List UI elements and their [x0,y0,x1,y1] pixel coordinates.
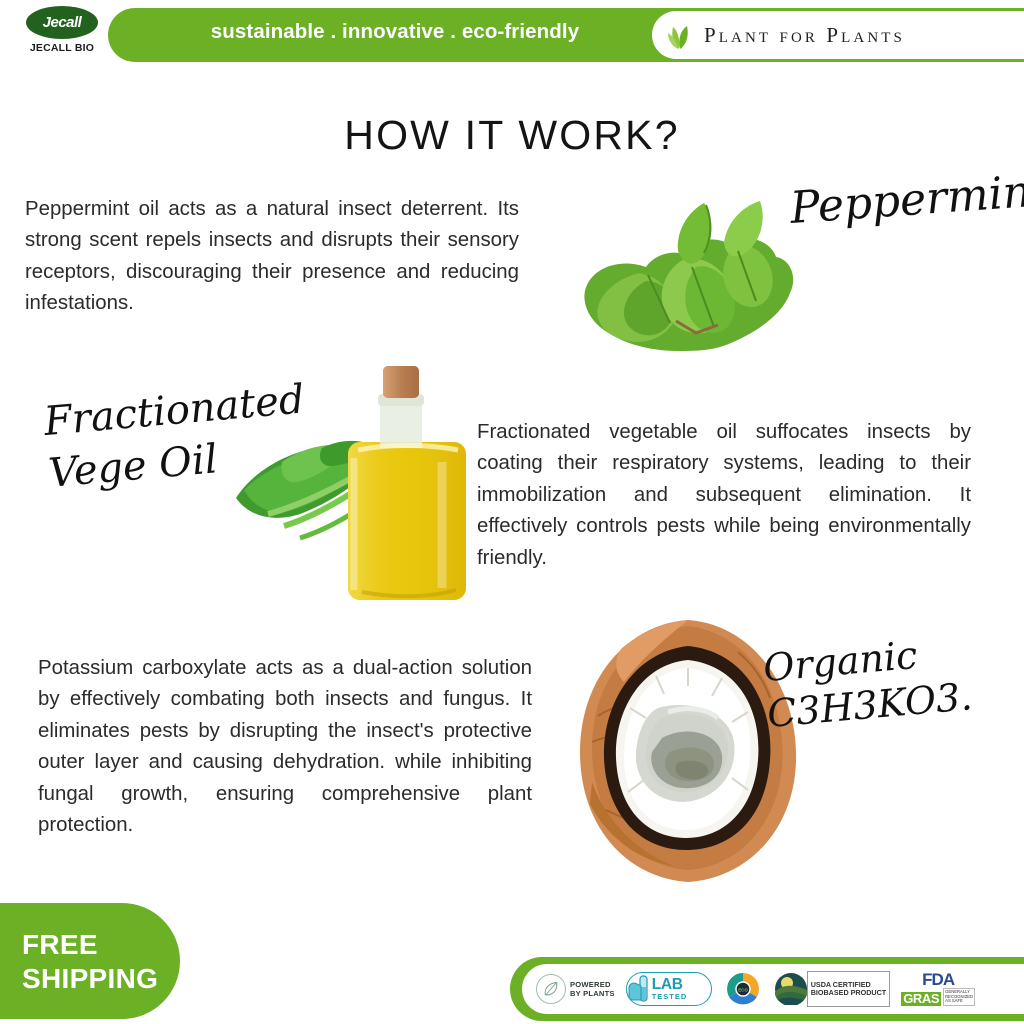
free-shipping-badge: FREE SHIPPING [0,903,180,1019]
certification-list: POWERED BY PLANTS LAB TESTED [522,964,1024,1014]
jecall-logo-subtitle: JECALL BIO [18,42,106,54]
plant-for-plants-badge: Plant for Plants [652,11,1024,59]
cert-usda-biobased: USDA CERTIFIED BIOBASED PRODUCT [774,970,890,1008]
paragraph-potassium-carboxylate: Potassium carboxylate acts as a dual-act… [38,653,532,841]
leaf-icon [542,980,560,998]
jecall-logo-mark: Jecall [26,6,98,39]
leaf-circle-icon [536,974,566,1004]
free-shipping-label: FREE SHIPPING [22,928,158,996]
svg-text:ECO: ECO [738,988,748,993]
cert-fda-line-2: GRAS [901,992,941,1006]
usda-text-block: USDA CERTIFIED BIOBASED PRODUCT [807,971,890,1007]
plant-for-plants-label: Plant for Plants [704,23,905,48]
jecall-logo-wordmark: Jecall [26,6,98,39]
cert-sustainability-wheel: ECO [723,967,763,1011]
paragraph-vegetable-oil: Fractionated vegetable oil suffocates in… [477,417,971,574]
leaf-icon [664,18,698,52]
fda-gras-row: GRAS GENERALLYRECOGNIZEDAS SAFE [901,988,975,1006]
cert-line-1: POWERED [570,980,615,989]
cert-line-2: BY PLANTS [570,989,615,998]
page-title: HOW IT WORK? [0,112,1024,159]
cert-fda-line-1: FDA [922,972,954,988]
certification-bar: POWERED BY PLANTS LAB TESTED [510,957,1024,1021]
usda-seal-icon [774,972,808,1006]
usda-landscape-icon [774,972,808,1006]
vegetable-oil-bottle-image [228,358,480,630]
lab-tested-pill: LAB TESTED [626,972,712,1006]
cert-lab-tested: LAB TESTED [626,967,712,1011]
free-shipping-line-1: FREE [22,928,158,962]
cert-fda-gras: FDA GRAS GENERALLYRECOGNIZEDAS SAFE [901,970,975,1008]
mint-leaves-image [528,155,828,365]
cert-lab-tested-line-1: LAB [652,978,688,992]
jecall-logo[interactable]: Jecall JECALL BIO [18,6,110,62]
paragraph-peppermint: Peppermint oil acts as a natural insect … [25,194,519,320]
cert-usda-line-2: BIOBASED PRODUCT [811,989,886,997]
script-line-2: Vege Oil [47,436,220,497]
page-header: sustainable . innovative . eco-friendly … [0,0,1024,62]
header-tagline: sustainable . innovative . eco-friendly [180,20,610,44]
free-shipping-line-2: SHIPPING [22,962,158,996]
fda-fine-print: GENERALLYRECOGNIZEDAS SAFE [943,988,975,1006]
cert-powered-by-plants-label: POWERED BY PLANTS [570,980,615,998]
script-label-organic-formula: Organic C3H3KO3. [761,627,978,737]
cert-powered-by-plants: POWERED BY PLANTS [536,967,615,1011]
recycle-wheel-icon: ECO [723,969,763,1009]
test-tube-hand-icon [627,974,651,1004]
cert-lab-tested-line-2: TESTED [652,992,688,1001]
